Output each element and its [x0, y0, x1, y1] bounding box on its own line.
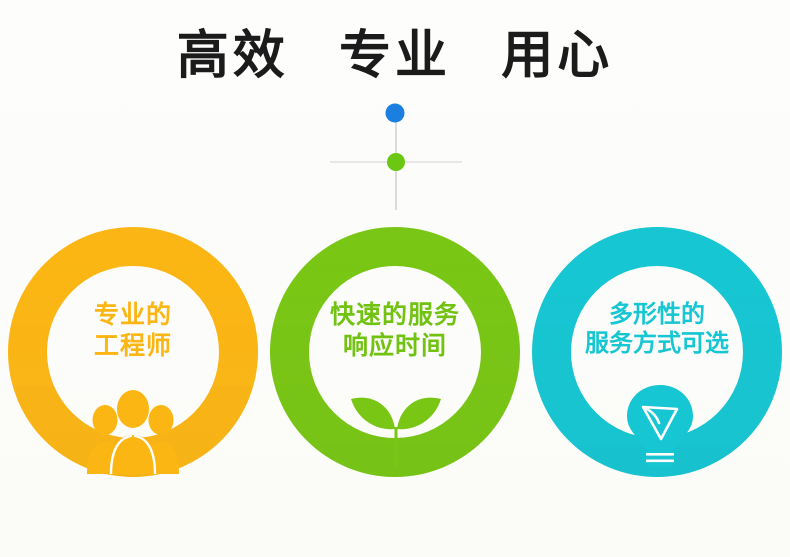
circle-label-service-modes: 多形性的 服务方式可选 — [537, 300, 777, 359]
people-icon — [85, 390, 181, 474]
circle-label-response-time-line-1: 快速的服务 — [275, 300, 515, 331]
circle-label-service-modes-line-1: 多形性的 — [537, 300, 777, 329]
circle-label-engineers-line-2: 工程师 — [13, 331, 253, 362]
sprout-icon — [348, 385, 444, 469]
circle-label-engineers: 专业的 工程师 — [13, 300, 253, 361]
lightbulb-icon — [612, 383, 708, 467]
circle-label-response-time: 快速的服务 响应时间 — [275, 300, 515, 361]
circle-label-service-modes-line-2: 服务方式可选 — [537, 329, 777, 358]
circle-label-engineers-line-1: 专业的 — [13, 300, 253, 331]
circle-label-response-time-line-2: 响应时间 — [275, 331, 515, 362]
poster-canvas: 高效 专业 用心 — [0, 0, 790, 557]
